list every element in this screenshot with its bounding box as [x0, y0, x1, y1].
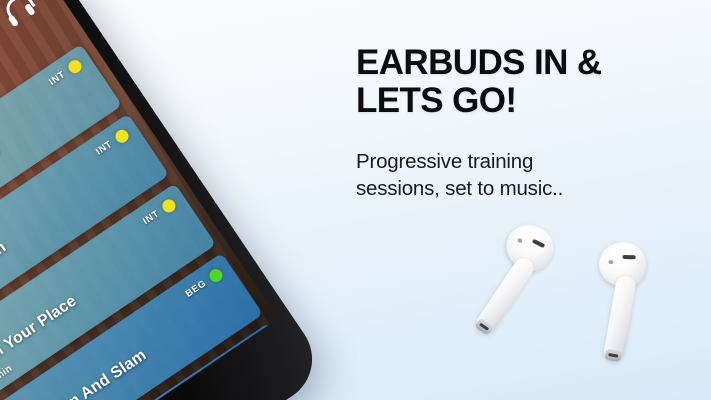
- status-badge: INT: [94, 127, 131, 158]
- level-label: INT: [94, 139, 115, 158]
- status-badge: BEG: [183, 266, 225, 300]
- phone-body: Basketball Finishing Tear Drop Floaters …: [0, 0, 329, 400]
- subheadline-line-1: Progressive training: [356, 148, 656, 175]
- level-label: INT: [47, 69, 68, 88]
- earbud-right-notch: [623, 255, 636, 259]
- app-promo-banner: Basketball Finishing Tear Drop Floaters …: [0, 0, 711, 400]
- phone-screen: Basketball Finishing Tear Drop Floaters …: [0, 0, 278, 400]
- level-label: BEG: [231, 348, 256, 370]
- status-badge: INT: [140, 197, 177, 228]
- earbuds-illustration: [470, 215, 700, 400]
- level-dot-icon: [160, 197, 178, 215]
- headphones-icon[interactable]: [0, 0, 38, 29]
- earbud-right-icon: [582, 238, 667, 373]
- level-label: INT: [141, 208, 162, 227]
- status-badge: BEG: [230, 336, 272, 370]
- level-dot-icon: [66, 58, 84, 76]
- session-list[interactable]: Tear Drop Floaters 16 min INT Run It Aga…: [0, 38, 278, 400]
- level-dot-icon: [254, 336, 272, 354]
- copy-block: EARBUDS IN & LETS GO! Progressive traini…: [356, 44, 686, 120]
- subheadline: Progressive training sessions, set to mu…: [356, 148, 656, 202]
- subheadline-line-2: sessions, set to music..: [356, 175, 656, 202]
- status-badge: INT: [47, 58, 84, 89]
- level-label: BEG: [184, 278, 209, 300]
- earbud-left-icon: [452, 216, 576, 356]
- level-dot-icon: [113, 127, 131, 145]
- headline-line-1: EARBUDS IN &: [356, 44, 686, 82]
- headline-line-2: LETS GO!: [356, 82, 686, 120]
- level-dot-icon: [207, 266, 225, 284]
- phone-mockup: Basketball Finishing Tear Drop Floaters …: [0, 0, 329, 400]
- headline: EARBUDS IN & LETS GO!: [356, 44, 686, 120]
- session-duration: 18 min: [0, 363, 14, 391]
